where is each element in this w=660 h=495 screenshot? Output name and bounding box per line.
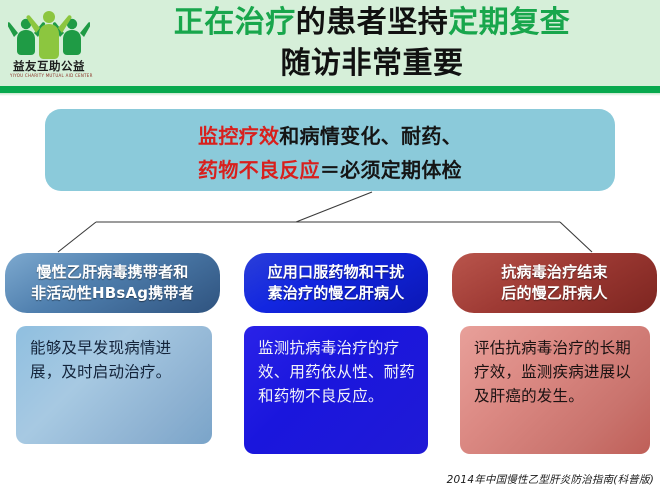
column-body-on-treatment: 监测抗病毒治疗的疗效、用药依从性、耐药和药物不良反应。 <box>244 326 428 454</box>
three-people-logo-icon <box>8 6 90 60</box>
info-line-2-black: ＝必须定期体检 <box>320 158 462 182</box>
slide-title: 正在治疗的患者坚持定期复查 随访非常重要 <box>92 2 652 84</box>
monitoring-info-box: 监控疗效和病情变化、耐药、 药物不良反应＝必须定期体检 <box>45 109 615 191</box>
header-divider-shadow <box>0 93 660 96</box>
info-line-1: 监控疗效和病情变化、耐药、 <box>45 120 615 149</box>
column-header-on-treatment-line-2: 素治疗的慢乙肝病人 <box>268 283 405 304</box>
info-line-1-black: 和病情变化、耐药、 <box>279 124 462 148</box>
title-segment-green-2: 定期复查 <box>448 5 570 40</box>
connector-lines <box>0 180 660 260</box>
logo-subtitle: YIYOU CHARITY MUTUAL AID CENTER <box>10 73 88 78</box>
title-line-1: 正在治疗的患者坚持定期复查 <box>92 2 652 43</box>
info-line-2: 药物不良反应＝必须定期体检 <box>45 154 615 183</box>
column-header-carrier-line-1: 慢性乙肝病毒携带者和 <box>31 262 194 283</box>
organization-logo: 益友互助公益 YIYOU CHARITY MUTUAL AID CENTER <box>8 4 90 84</box>
source-citation: 2014年中国慢性乙型肝炎防治指南(科普版) <box>447 472 654 487</box>
title-segment-green-1: 正在治疗 <box>174 5 296 40</box>
header-divider-rule <box>0 86 660 93</box>
column-header-carrier[interactable]: 慢性乙肝病毒携带者和 非活动性HBsAg携带者 <box>5 253 220 313</box>
column-body-carrier: 能够及早发现病情进展，及时启动治疗。 <box>16 326 212 444</box>
column-header-on-treatment-line-1: 应用口服药物和干扰 <box>268 262 405 283</box>
title-segment-black: 的患者坚持 <box>296 5 449 40</box>
logo-wordmark: 益友互助公益 <box>10 60 88 72</box>
column-body-post-treatment: 评估抗病毒治疗的长期疗效，监测疾病进展以及肝癌的发生。 <box>460 326 650 454</box>
column-header-post-treatment[interactable]: 抗病毒治疗结束 后的慢乙肝病人 <box>452 253 657 313</box>
info-line-1-red: 监控疗效 <box>198 124 279 148</box>
column-header-post-treatment-line-1: 抗病毒治疗结束 <box>501 262 607 283</box>
title-line-2: 随访非常重要 <box>92 43 652 84</box>
column-header-carrier-line-2: 非活动性HBsAg携带者 <box>31 283 194 304</box>
column-header-post-treatment-line-2: 后的慢乙肝病人 <box>501 283 607 304</box>
column-header-on-treatment[interactable]: 应用口服药物和干扰 素治疗的慢乙肝病人 <box>244 253 428 313</box>
info-line-2-red: 药物不良反应 <box>198 158 320 182</box>
slide-canvas: 益友互助公益 YIYOU CHARITY MUTUAL AID CENTER 正… <box>0 0 660 495</box>
